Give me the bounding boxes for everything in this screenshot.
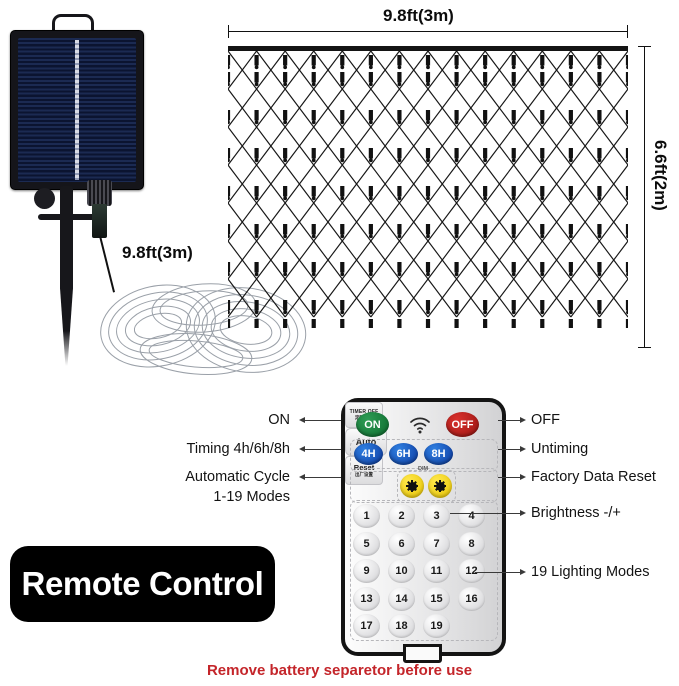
remote-control-badge: Remote Control: [10, 546, 275, 622]
brightness-down-button[interactable]: [400, 474, 424, 498]
numpad-key-1[interactable]: 1: [353, 504, 380, 528]
solar-panel: [10, 30, 144, 190]
badge-text: Remote Control: [22, 565, 264, 603]
annotation-lighting-modes: 19 Lighting Modes: [531, 564, 650, 580]
leader-brightness: [450, 513, 520, 514]
stake-adjust-knob: [34, 188, 55, 209]
numpad-key-12[interactable]: 12: [458, 559, 485, 583]
numpad-key-4[interactable]: 4: [458, 504, 485, 528]
numpad-key-7[interactable]: 7: [423, 532, 450, 556]
net-mesh-svg: [228, 46, 628, 328]
numpad-key-17[interactable]: 17: [353, 614, 380, 638]
numpad-key-14[interactable]: 14: [388, 587, 415, 611]
numpad: 12345678910111213141516171819: [353, 504, 493, 641]
annotation-factory-reset: Factory Data Reset: [531, 469, 656, 485]
numpad-key-19[interactable]: 19: [423, 614, 450, 638]
led-net-light: [228, 46, 628, 328]
arrow-lighting-modes: [520, 569, 526, 575]
net-width-label: 9.8ft(3m): [383, 6, 454, 26]
remote-on-button[interactable]: ON: [356, 412, 389, 437]
timer-6h-button[interactable]: 6H: [389, 443, 418, 465]
numpad-key-6[interactable]: 6: [388, 532, 415, 556]
remote-control-body: ON OFF 4H 6H 8H TIMER OFF 定时关闭 Auto DIM: [341, 398, 506, 656]
dim-label: DIM: [418, 466, 428, 472]
annotation-off: OFF: [531, 412, 560, 428]
arrow-factory-reset: [520, 474, 526, 480]
ground-stake-tip: [60, 288, 73, 366]
timer-4h-button[interactable]: 4H: [354, 443, 383, 465]
timer-8h-button[interactable]: 8H: [424, 443, 453, 465]
net-height-cap-bottom: [638, 347, 651, 348]
net-height-cap-top: [638, 46, 651, 47]
annotation-auto-cycle: Automatic Cycle: [140, 469, 290, 485]
net-height-dimension-line: [644, 46, 645, 348]
arrow-auto-cycle: [299, 474, 305, 480]
wifi-icon: [407, 413, 433, 435]
cable-gland: [87, 180, 112, 206]
leader-lighting-modes: [475, 572, 520, 573]
arrow-brightness: [520, 510, 526, 516]
annotation-untiming: Untiming: [531, 441, 588, 457]
arrow-timing: [299, 446, 305, 452]
net-width-cap-left: [228, 25, 229, 38]
ground-stake-wing: [38, 214, 96, 220]
numpad-key-18[interactable]: 18: [388, 614, 415, 638]
numpad-key-11[interactable]: 11: [423, 559, 450, 583]
cable-plug: [92, 204, 107, 238]
leader-on: [305, 420, 341, 421]
numpad-key-9[interactable]: 9: [353, 559, 380, 583]
annotation-brightness: Brightness -/+: [531, 505, 621, 521]
numpad-key-15[interactable]: 15: [423, 587, 450, 611]
solar-cell-array: [18, 38, 136, 182]
numpad-key-8[interactable]: 8: [458, 532, 485, 556]
leader-off: [498, 420, 520, 421]
leader-untiming: [498, 449, 520, 450]
numpad-key-10[interactable]: 10: [388, 559, 415, 583]
cable-length-label: 9.8ft(3m): [122, 243, 193, 263]
numpad-key-5[interactable]: 5: [353, 532, 380, 556]
arrow-untiming: [520, 446, 526, 452]
net-width-cap-right: [627, 25, 628, 38]
dim-group: DIM: [397, 468, 455, 501]
brightness-up-button[interactable]: [428, 474, 452, 498]
annotation-on: ON: [180, 412, 290, 428]
net-width-dimension-line: [228, 31, 628, 32]
arrow-off: [520, 417, 526, 423]
numpad-key-16[interactable]: 16: [458, 587, 485, 611]
net-height-label: 6.6ft(2m): [650, 140, 670, 211]
remote-off-button[interactable]: OFF: [446, 412, 479, 437]
numpad-key-13[interactable]: 13: [353, 587, 380, 611]
leader-auto-cycle: [305, 477, 341, 478]
numpad-key-3[interactable]: 3: [423, 504, 450, 528]
ground-stake-post: [60, 186, 73, 291]
battery-compartment-tab: [403, 644, 442, 663]
annotation-modes-range: 1-19 Modes: [140, 489, 290, 505]
battery-warning-text: Remove battery separetor before use: [0, 662, 679, 679]
solar-busbar: [75, 40, 79, 180]
numpad-key-2[interactable]: 2: [388, 504, 415, 528]
arrow-on: [299, 417, 305, 423]
leader-factory-reset: [498, 477, 520, 478]
annotation-timing: Timing 4h/6h/8h: [150, 441, 290, 457]
leader-timing: [305, 449, 341, 450]
